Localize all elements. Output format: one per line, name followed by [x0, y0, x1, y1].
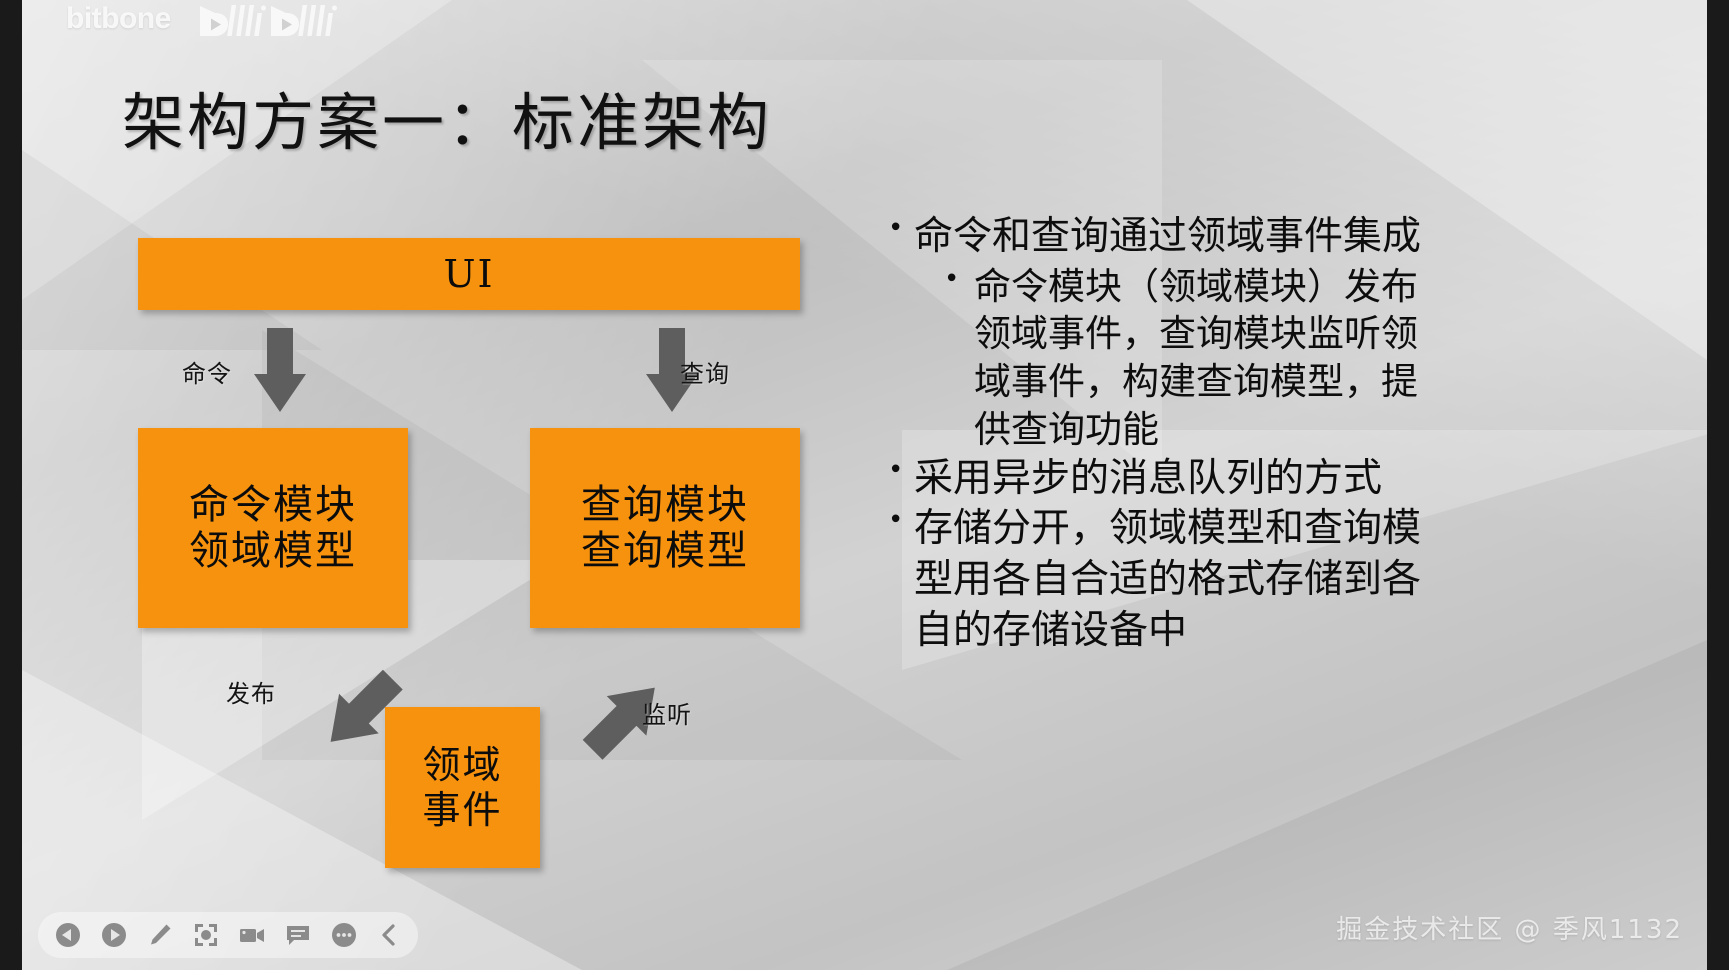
- bullet-text: 供查询功能: [974, 406, 1674, 454]
- more-dots-icon: [331, 922, 357, 948]
- diagram-box-query-module: 查询模块 查询模型: [530, 428, 800, 628]
- arrow-down-command-icon: [254, 328, 306, 412]
- box-line: 领域: [422, 743, 502, 787]
- bilibili-logo-icon: [197, 1, 337, 41]
- record-button[interactable]: [232, 915, 272, 955]
- diagram-box-command-module: 命令模块 领域模型: [138, 428, 408, 628]
- bullet-text: 型用各自合适的格式存储到各: [914, 555, 1674, 606]
- bullet-text: 存储分开，领域模型和查询模: [914, 504, 1674, 555]
- box-line: 查询模型: [581, 528, 749, 574]
- page-title: 架构方案一：标准架构: [122, 72, 772, 162]
- box-line: 查询模块: [581, 482, 749, 528]
- chevron-left-icon: [377, 922, 403, 948]
- slide-canvas: bitbone: [22, 0, 1707, 970]
- screen: bitbone: [0, 0, 1729, 970]
- arrow-label-publish: 发布: [226, 674, 276, 709]
- arrow-label-command: 命令: [182, 354, 232, 389]
- bullet-text: 自的存储设备中: [914, 606, 1674, 657]
- bullet-list: 命令和查询通过领域事件集成 命令模块（领域模块）发布 领域事件，查询模块监听领 …: [874, 212, 1674, 656]
- watermark: 掘金技术社区 @ 季风1132: [1336, 909, 1683, 946]
- bullet-item: 存储分开，领域模型和查询模 型用各自合适的格式存储到各 自的存储设备中: [874, 504, 1674, 656]
- box-line: 命令模块: [189, 482, 357, 528]
- draw-button[interactable]: [140, 915, 180, 955]
- comment-button[interactable]: [278, 915, 318, 955]
- arrow-label-listen: 监听: [642, 695, 692, 730]
- previous-button[interactable]: [48, 915, 88, 955]
- diagram-box-ui: UI: [138, 238, 800, 310]
- video-camera-icon: [239, 922, 265, 948]
- bullet-item: 采用异步的消息队列的方式: [874, 454, 1674, 505]
- collapse-button[interactable]: [370, 915, 410, 955]
- player-toolbar[interactable]: [38, 912, 418, 958]
- pencil-icon: [147, 922, 173, 948]
- bullet-item: 命令和查询通过领域事件集成: [874, 212, 1674, 263]
- bullet-text: 命令和查询通过领域事件集成: [914, 214, 1421, 259]
- bullet-text: 领域事件，查询模块监听领: [974, 310, 1674, 358]
- arrow-label-query: 查询: [680, 354, 730, 389]
- screenshot-icon: [193, 922, 219, 948]
- bullet-item: 命令模块（领域模块）发布 领域事件，查询模块监听领 域事件，构建查询模型，提 供…: [874, 263, 1674, 454]
- more-button[interactable]: [324, 915, 364, 955]
- play-button[interactable]: [94, 915, 134, 955]
- play-icon: [101, 922, 127, 948]
- bitbone-wordmark: bitbone: [66, 2, 171, 36]
- screenshot-button[interactable]: [186, 915, 226, 955]
- box-line: UI: [443, 252, 494, 296]
- bullet-text: 采用异步的消息队列的方式: [914, 456, 1382, 501]
- box-line: 事件: [422, 788, 502, 832]
- bullet-text: 域事件，构建查询模型，提: [974, 358, 1674, 406]
- previous-icon: [55, 922, 81, 948]
- box-line: 领域模型: [189, 528, 357, 574]
- comment-icon: [285, 922, 311, 948]
- bullet-text: 命令模块（领域模块）发布: [974, 263, 1674, 311]
- branding-bar: bitbone: [22, 0, 1707, 52]
- arrow-publish-icon: [312, 664, 410, 756]
